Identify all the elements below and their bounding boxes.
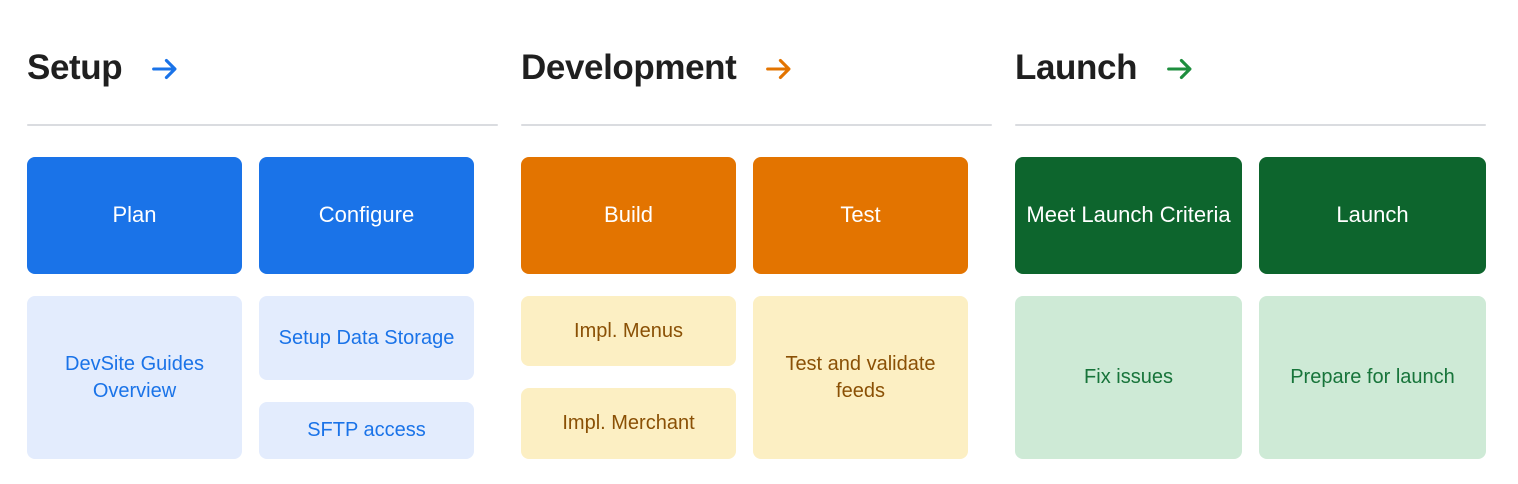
task-col-test: Test and validate feeds	[753, 296, 968, 459]
task-card-prepare-for-launch[interactable]: Prepare for launch	[1259, 296, 1486, 459]
task-col-launch: Prepare for launch	[1259, 296, 1486, 459]
task-col-plan: DevSite Guides Overview	[27, 296, 242, 459]
task-card-label: SFTP access	[307, 417, 426, 444]
task-card-label: Test and validate feeds	[765, 351, 956, 405]
task-row-development: Impl. Menus Impl. Merchant Test and vali…	[521, 296, 968, 459]
phase-divider-launch	[1015, 124, 1486, 126]
stage-card-label: Test	[840, 201, 880, 230]
stage-card-meet-launch-criteria[interactable]: Meet Launch Criteria	[1015, 157, 1242, 274]
phase-header-launch: Launch	[1015, 0, 1498, 124]
task-col-build: Impl. Menus Impl. Merchant	[521, 296, 736, 459]
arrow-right-icon	[762, 52, 796, 86]
task-card-label: DevSite Guides Overview	[39, 351, 230, 405]
phase-title-setup: Setup	[27, 50, 122, 85]
phase-divider-development	[521, 124, 992, 126]
task-row-launch: Fix issues Prepare for launch	[1015, 296, 1498, 459]
phase-header-development: Development	[521, 0, 968, 124]
task-card-sftp-access[interactable]: SFTP access	[259, 402, 474, 459]
stage-card-label: Build	[604, 201, 653, 230]
phase-title-launch: Launch	[1015, 50, 1137, 85]
task-card-impl-merchant[interactable]: Impl. Merchant	[521, 388, 736, 459]
task-card-label: Setup Data Storage	[279, 325, 455, 352]
stage-card-label: Plan	[112, 201, 156, 230]
stage-card-launch[interactable]: Launch	[1259, 157, 1486, 274]
stage-card-label: Configure	[319, 201, 414, 230]
task-card-label: Impl. Menus	[574, 318, 683, 345]
phase-title-development: Development	[521, 50, 736, 85]
task-card-label: Fix issues	[1084, 364, 1173, 391]
arrow-right-icon	[148, 52, 182, 86]
phase-column-development: Development Build Test Impl. Menus Impl.…	[494, 0, 988, 484]
task-card-setup-data-storage[interactable]: Setup Data Storage	[259, 296, 474, 380]
task-col-configure: Setup Data Storage SFTP access	[259, 296, 474, 459]
stage-card-plan[interactable]: Plan	[27, 157, 242, 274]
stage-card-configure[interactable]: Configure	[259, 157, 474, 274]
arrow-right-icon	[1163, 52, 1197, 86]
implementation-phases-board: Setup Plan Configure DevSite Guides Over…	[0, 0, 1518, 484]
task-card-impl-menus[interactable]: Impl. Menus	[521, 296, 736, 366]
stage-card-label: Meet Launch Criteria	[1026, 201, 1230, 230]
stage-row-launch: Meet Launch Criteria Launch	[1015, 157, 1498, 274]
task-card-label: Impl. Merchant	[562, 410, 694, 437]
phase-divider-setup	[27, 124, 498, 126]
phase-column-setup: Setup Plan Configure DevSite Guides Over…	[0, 0, 494, 484]
stage-row-development: Build Test	[521, 157, 968, 274]
task-card-test-and-validate-feeds[interactable]: Test and validate feeds	[753, 296, 968, 459]
task-col-meet-launch-criteria: Fix issues	[1015, 296, 1242, 459]
task-card-fix-issues[interactable]: Fix issues	[1015, 296, 1242, 459]
task-card-label: Prepare for launch	[1290, 364, 1455, 391]
phase-column-launch: Launch Meet Launch Criteria Launch Fix i…	[988, 0, 1518, 484]
stage-card-label: Launch	[1336, 201, 1408, 230]
phase-header-setup: Setup	[27, 0, 474, 124]
task-card-devsite-guides-overview[interactable]: DevSite Guides Overview	[27, 296, 242, 459]
stage-card-test[interactable]: Test	[753, 157, 968, 274]
stage-row-setup: Plan Configure	[27, 157, 474, 274]
task-row-setup: DevSite Guides Overview Setup Data Stora…	[27, 296, 474, 459]
stage-card-build[interactable]: Build	[521, 157, 736, 274]
